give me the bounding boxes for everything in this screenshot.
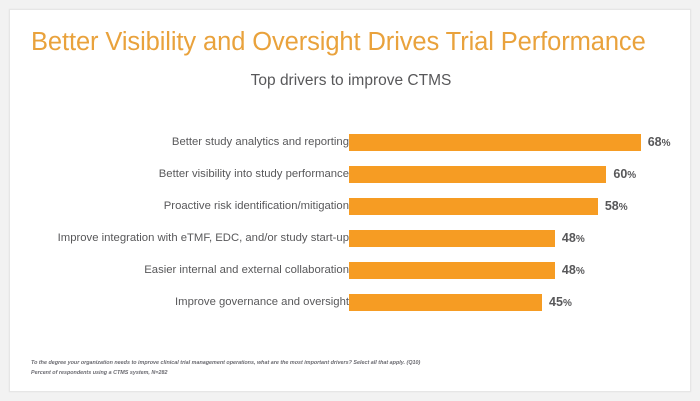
bar <box>349 262 555 279</box>
bar-value-label: 48% <box>562 260 585 281</box>
bar-value-number: 45 <box>549 295 563 309</box>
percent-sign: % <box>627 170 636 181</box>
percent-sign: % <box>662 138 671 149</box>
footnote-line-2: Percent of respondents using a CTMS syst… <box>31 369 651 379</box>
bar-value-number: 48 <box>562 231 576 245</box>
chart-row: Better study analytics and reporting68% <box>10 132 692 153</box>
bar-track <box>349 230 555 247</box>
footnote-line-1: To the degree your organization needs to… <box>31 359 651 369</box>
bar-category-label: Proactive risk identification/mitigation <box>164 196 349 217</box>
footnote: To the degree your organization needs to… <box>31 359 651 378</box>
bar <box>349 166 606 183</box>
bar-value-label: 58% <box>605 196 628 217</box>
bar-value-number: 68 <box>648 135 662 149</box>
bar-value-number: 60 <box>613 167 627 181</box>
chart-row: Improve governance and oversight45% <box>10 292 692 313</box>
bar-track <box>349 166 606 183</box>
chart-row: Better visibility into study performance… <box>10 164 692 185</box>
bar-category-label: Improve integration with eTMF, EDC, and/… <box>58 228 349 249</box>
bar-track <box>349 262 555 279</box>
bar-value-number: 48 <box>562 263 576 277</box>
bar-track <box>349 294 542 311</box>
chart-row: Proactive risk identification/mitigation… <box>10 196 692 217</box>
bar-category-label: Better study analytics and reporting <box>172 132 349 153</box>
chart-row: Easier internal and external collaborati… <box>10 260 692 281</box>
slide-canvas: Better Visibility and Oversight Drives T… <box>0 0 700 401</box>
bar-value-label: 48% <box>562 228 585 249</box>
percent-sign: % <box>619 202 628 213</box>
bar-value-label: 68% <box>648 132 671 153</box>
percent-sign: % <box>576 266 585 277</box>
bar-track <box>349 134 641 151</box>
bar-track <box>349 198 598 215</box>
page-title: Better Visibility and Oversight Drives T… <box>31 27 676 57</box>
slide-card: Better Visibility and Oversight Drives T… <box>9 9 691 392</box>
bar-category-label: Improve governance and oversight <box>175 292 349 313</box>
percent-sign: % <box>563 298 572 309</box>
bar-value-number: 58 <box>605 199 619 213</box>
bar-value-label: 45% <box>549 292 572 313</box>
bar-category-label: Better visibility into study performance <box>159 164 349 185</box>
bar <box>349 230 555 247</box>
bar-value-label: 60% <box>613 164 636 185</box>
bar <box>349 294 542 311</box>
chart-row: Improve integration with eTMF, EDC, and/… <box>10 228 692 249</box>
bar <box>349 134 641 151</box>
bar-category-label: Easier internal and external collaborati… <box>144 260 349 281</box>
bar <box>349 198 598 215</box>
bar-chart: Better study analytics and reporting68%B… <box>10 123 692 323</box>
percent-sign: % <box>576 234 585 245</box>
chart-subtitle: Top drivers to improve CTMS <box>10 71 692 91</box>
